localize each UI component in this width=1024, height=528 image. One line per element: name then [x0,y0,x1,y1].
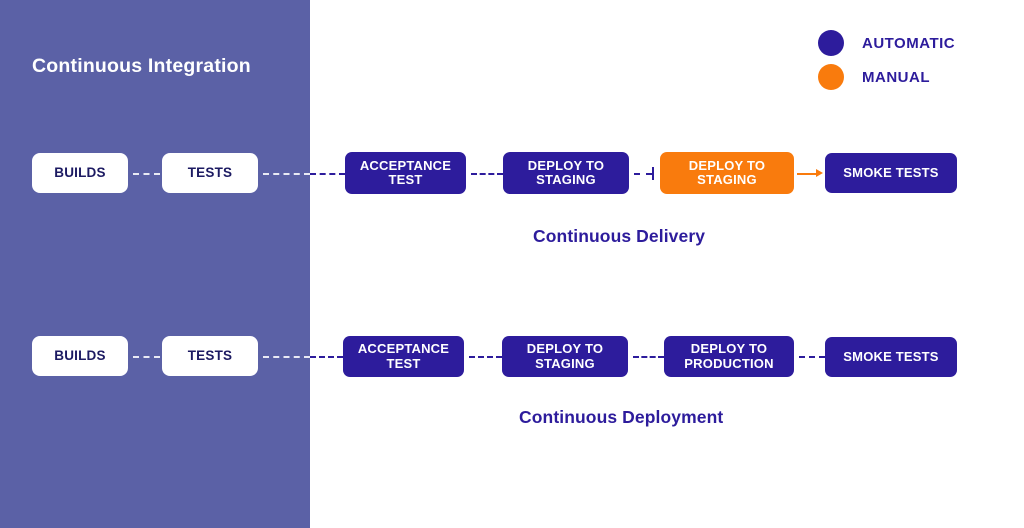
node-smoke-tests-deployment[interactable]: SMOKE TESTS [825,337,957,377]
node-label: BUILDS [48,349,111,364]
continuous-integration-title: Continuous Integration [32,55,251,78]
node-smoke-tests-delivery[interactable]: SMOKE TESTS [825,153,957,193]
legend-item-manual[interactable]: MANUAL [818,60,955,94]
connector-tests-acceptance-deployment-a [263,356,310,358]
filled-circle-icon [818,30,844,56]
node-deploy-to-production-deployment[interactable]: DEPLOY TOPRODUCTION [664,336,794,377]
arrowhead-icon [816,169,823,177]
connector-acceptance-staging-delivery [471,173,503,175]
connector-tests-acceptance-delivery-b [310,173,345,175]
node-label: DEPLOY TOSTAGING [522,159,610,187]
node-tests-deployment[interactable]: TESTS [162,336,258,376]
node-label: ACCEPTANCETEST [352,342,455,370]
connector-production-smoke-deployment [799,356,825,358]
node-label: DEPLOY TOSTAGING [683,159,771,187]
node-acceptance-test-deployment[interactable]: ACCEPTANCETEST [343,336,464,377]
node-label: BUILDS [48,166,111,181]
continuous-integration-panel [0,0,310,528]
connector-staging-production-deployment [633,356,664,358]
connector-manual-gate-delivery [634,173,652,175]
connector-builds-tests-delivery [133,173,160,175]
node-builds-delivery[interactable]: BUILDS [32,153,128,193]
legend: AUTOMATIC MANUAL [818,26,955,94]
legend-label: AUTOMATIC [862,35,955,52]
node-label: ACCEPTANCETEST [354,159,457,187]
node-label: TESTS [182,349,239,364]
node-tests-delivery[interactable]: TESTS [162,153,258,193]
node-label: SMOKE TESTS [837,350,944,364]
node-label: SMOKE TESTS [837,166,944,180]
connector-tests-acceptance-delivery-a [263,173,310,175]
legend-label: MANUAL [862,69,930,86]
caption-continuous-delivery: Continuous Delivery [533,226,705,247]
connector-acceptance-staging-deployment [469,356,502,358]
connector-tests-acceptance-deployment-b [310,356,343,358]
legend-item-automatic[interactable]: AUTOMATIC [818,26,955,60]
node-acceptance-test-delivery[interactable]: ACCEPTANCETEST [345,152,466,194]
filled-circle-icon [818,64,844,90]
diagram-canvas: Continuous Integration BUILDS TESTS ACCE… [0,0,1024,528]
node-deploy-to-staging-delivery[interactable]: DEPLOY TOSTAGING [503,152,629,194]
connector-manual-smoke-delivery [797,173,818,175]
node-builds-deployment[interactable]: BUILDS [32,336,128,376]
node-label: DEPLOY TOSTAGING [521,342,609,370]
manual-gate-bar-icon [652,167,654,180]
node-deploy-to-staging-deployment[interactable]: DEPLOY TOSTAGING [502,336,628,377]
node-label: DEPLOY TOPRODUCTION [678,342,779,370]
connector-builds-tests-deployment [133,356,160,358]
node-label: TESTS [182,166,239,181]
node-deploy-to-staging-manual-delivery[interactable]: DEPLOY TOSTAGING [660,152,794,194]
caption-continuous-deployment: Continuous Deployment [519,407,723,428]
